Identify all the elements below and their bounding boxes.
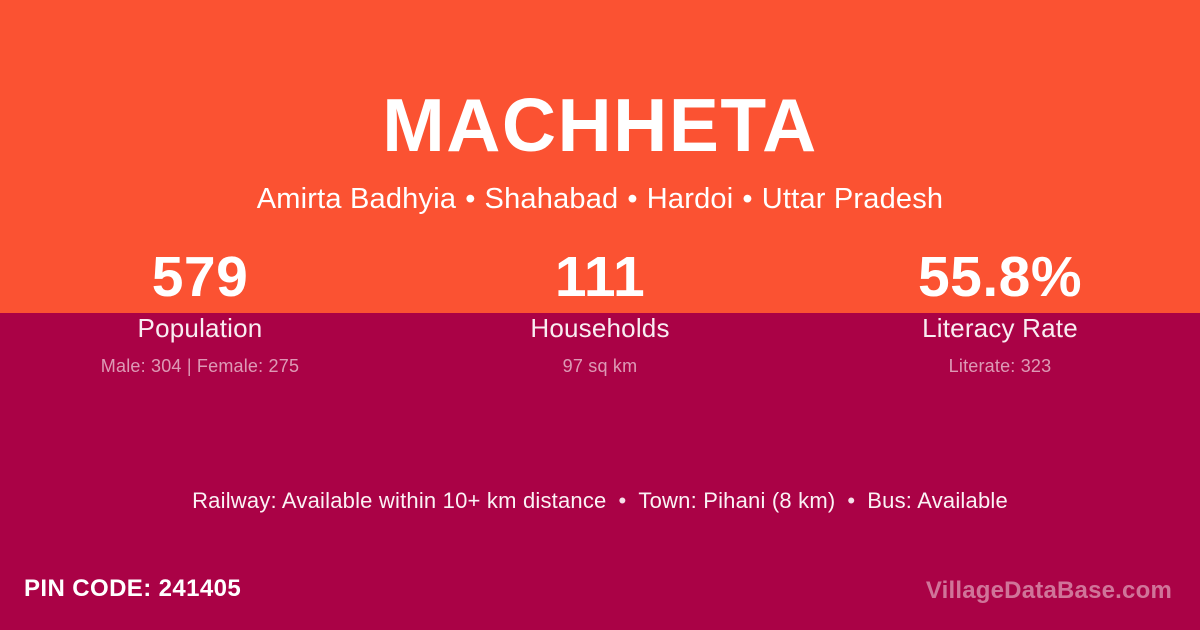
stat-value: 579 bbox=[0, 244, 400, 310]
page-title: MACHHETA bbox=[0, 88, 1200, 163]
breadcrumb-item-gram-panchayat: Amirta Badhyia bbox=[257, 183, 456, 215]
stat-label: Households bbox=[400, 312, 800, 344]
infra-item-railway: Railway: Available within 10+ km distanc… bbox=[192, 488, 606, 513]
bullet-separator-icon: • bbox=[627, 182, 637, 217]
infra-item-bus: Bus: Available bbox=[867, 488, 1008, 513]
bullet-separator-icon: • bbox=[847, 486, 855, 516]
stat-subtext: Literate: 323 bbox=[800, 354, 1200, 378]
stat-label: Literacy Rate bbox=[800, 312, 1200, 344]
stats-row: 579 Population Male: 304 | Female: 275 1… bbox=[0, 244, 1200, 378]
stat-subtext: 97 sq km bbox=[400, 354, 800, 378]
stat-value: 55.8% bbox=[800, 244, 1200, 310]
bullet-separator-icon: • bbox=[465, 182, 475, 217]
pin-code: PIN CODE: 241405 bbox=[24, 572, 241, 606]
breadcrumb-item-state: Uttar Pradesh bbox=[762, 183, 944, 215]
site-branding: VillageDataBase.com bbox=[926, 574, 1172, 608]
breadcrumb: Amirta Badhyia•Shahabad•Hardoi•Uttar Pra… bbox=[0, 182, 1200, 217]
card-footer: PIN CODE: 241405 VillageDataBase.com bbox=[0, 572, 1200, 612]
village-info-card: MACHHETA Amirta Badhyia•Shahabad•Hardoi•… bbox=[0, 0, 1200, 630]
stat-population: 579 Population Male: 304 | Female: 275 bbox=[0, 244, 400, 378]
breadcrumb-item-district: Hardoi bbox=[647, 183, 734, 215]
stat-label: Population bbox=[0, 312, 400, 344]
stat-households: 111 Households 97 sq km bbox=[400, 244, 800, 378]
bullet-separator-icon: • bbox=[619, 486, 627, 516]
bullet-separator-icon: • bbox=[742, 182, 752, 217]
stat-subtext: Male: 304 | Female: 275 bbox=[0, 354, 400, 378]
stat-literacy-rate: 55.8% Literacy Rate Literate: 323 bbox=[800, 244, 1200, 378]
infra-item-town: Town: Pihani (8 km) bbox=[638, 488, 835, 513]
stat-value: 111 bbox=[400, 244, 800, 310]
breadcrumb-item-block: Shahabad bbox=[485, 183, 619, 215]
infrastructure-line: Railway: Available within 10+ km distanc… bbox=[0, 486, 1200, 516]
